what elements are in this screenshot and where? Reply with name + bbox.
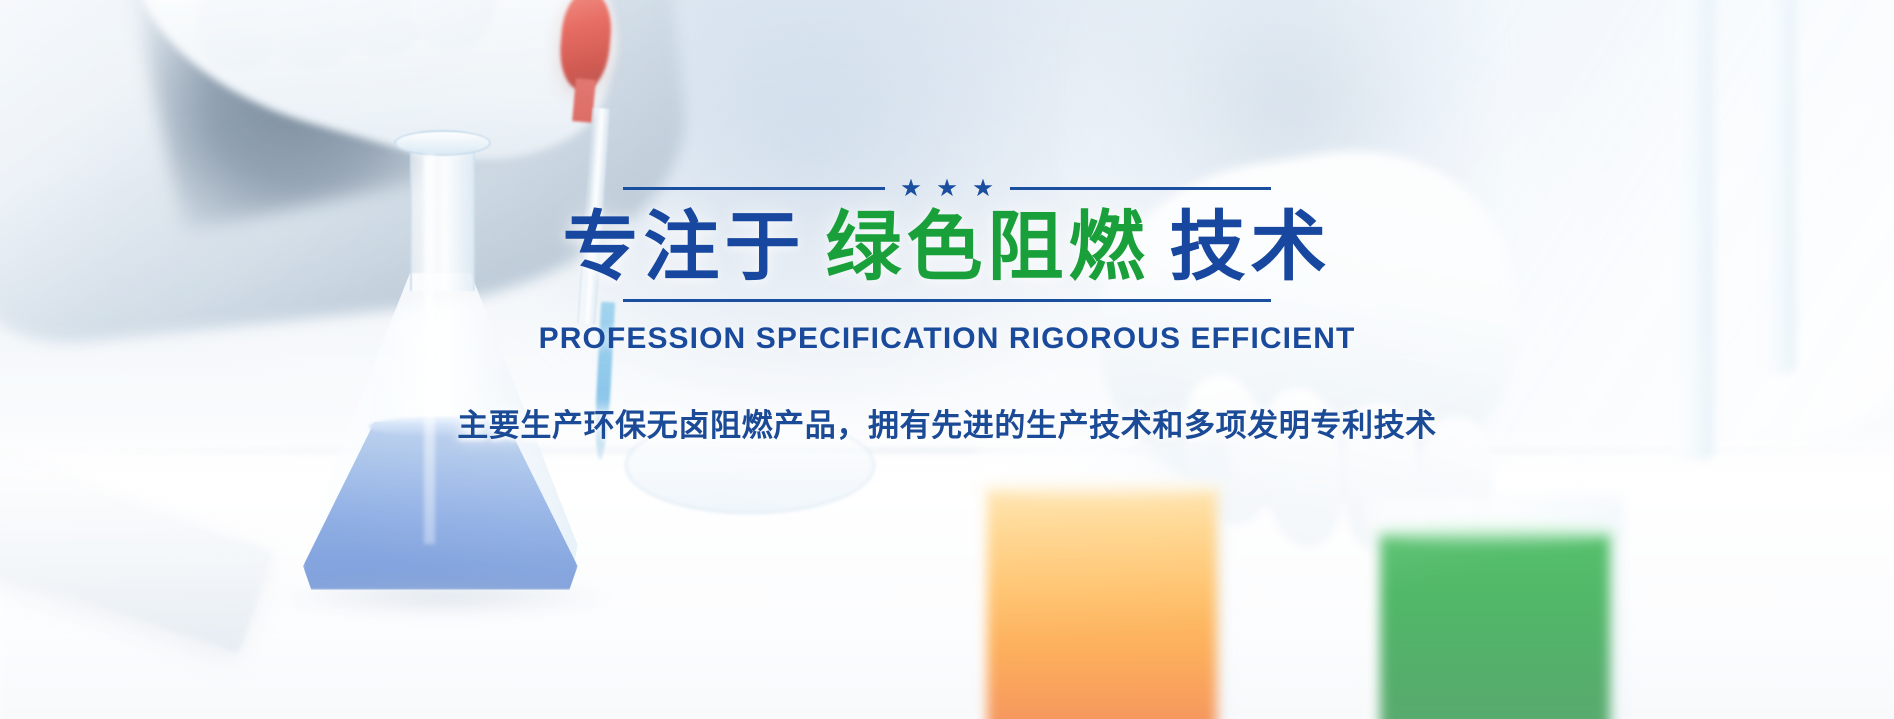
bottom-divider-rule [623, 299, 1271, 302]
star-icon [974, 179, 993, 198]
star-icon [938, 179, 957, 198]
divider-stars [885, 179, 1010, 198]
banner-text-overlay: 专注于绿色阻燃技术 PROFESSION SPECIFICATION RIGOR… [0, 0, 1894, 719]
banner-subtitle-english: PROFESSION SPECIFICATION RIGOROUS EFFICI… [539, 322, 1356, 356]
headline-part-1: 专注于 [563, 205, 806, 290]
banner-headline: 专注于绿色阻燃技术 [563, 208, 1332, 289]
top-divider [623, 176, 1271, 200]
divider-rule-right [1010, 187, 1272, 190]
headline-part-3: 技术 [1170, 205, 1332, 290]
headline-part-2: 绿色阻燃 [826, 205, 1150, 290]
divider-rule-left [623, 187, 885, 190]
hero-banner: 专注于绿色阻燃技术 PROFESSION SPECIFICATION RIGOR… [0, 0, 1894, 719]
star-icon [902, 179, 921, 198]
banner-description-chinese: 主要生产环保无卤阻燃产品，拥有先进的生产技术和多项发明专利技术 [457, 400, 1437, 445]
